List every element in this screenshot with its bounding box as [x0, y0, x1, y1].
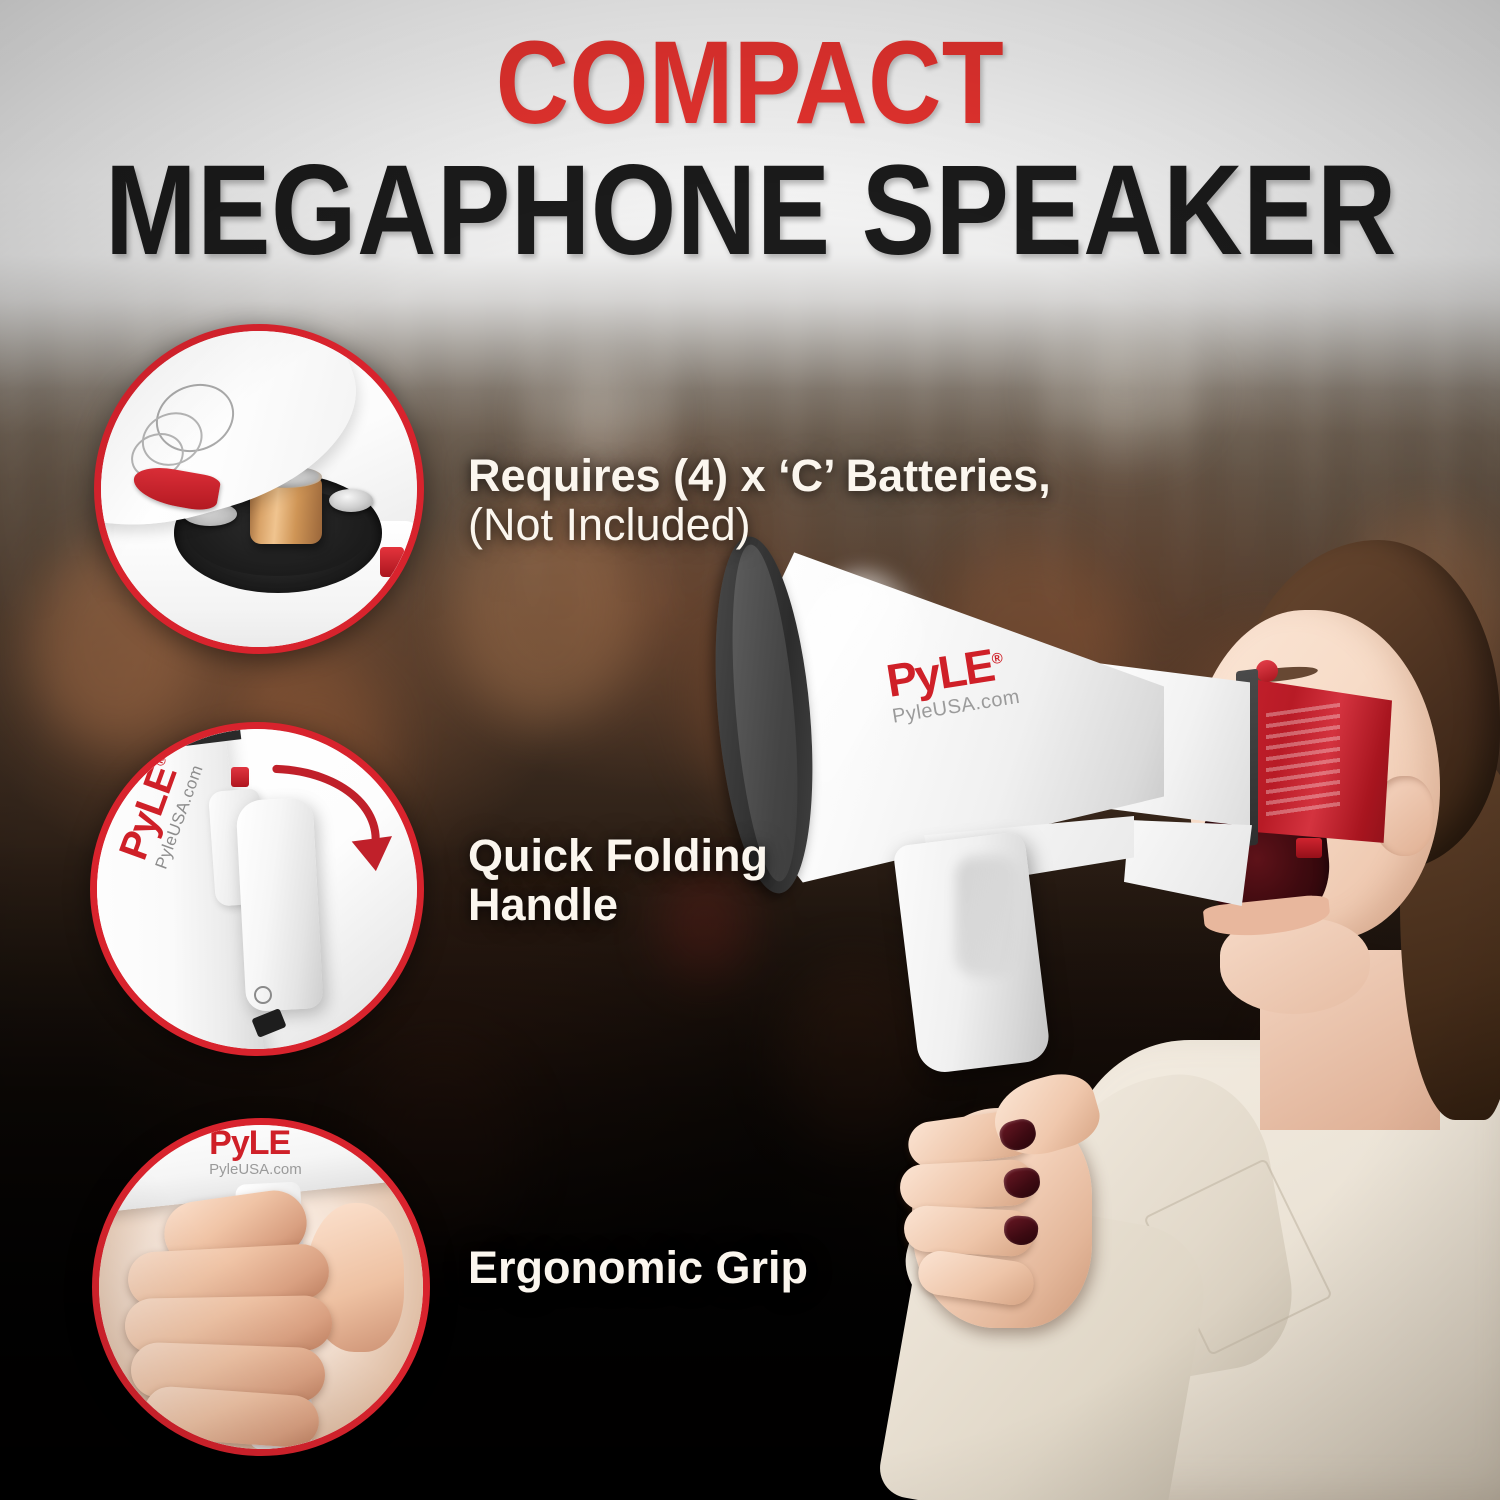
feature-handle-line-2: Handle — [468, 881, 768, 930]
feature-label-battery: Requires (4) x ‘C’ Batteries, (Not Inclu… — [468, 452, 1051, 549]
feature-handle-line-1: Quick Folding — [468, 832, 768, 881]
callout-ergonomic-grip: PyLE PyleUSA.com — [92, 1118, 430, 1456]
pyle-logo: PyLE PyleUSA.com — [209, 1128, 302, 1178]
headline-block: COMPACT MEGAPHONE SPEAKER — [0, 26, 1500, 273]
handle-shadow — [956, 856, 1016, 976]
fold-direction-arrow-icon — [263, 755, 397, 896]
callout-folding-handle: PyLE® PyleUSA.com — [90, 722, 424, 1056]
lid-latch — [380, 547, 404, 577]
megaphone-neck — [1124, 820, 1252, 906]
red-knob — [1256, 660, 1278, 682]
product-marketing-image: COMPACT MEGAPHONE SPEAKER — [0, 0, 1500, 1500]
wrist-strap-ring — [254, 986, 272, 1004]
hand-holding-megaphone — [882, 1058, 1122, 1358]
speaker-vents — [1266, 703, 1340, 817]
red-button — [231, 767, 249, 787]
callout-battery-compartment — [94, 324, 424, 654]
pyle-logo-url: PyleUSA.com — [209, 1161, 302, 1178]
registered-mark-icon: ® — [990, 650, 1002, 668]
feature-battery-line-2: (Not Included) — [468, 501, 1051, 550]
pyle-logo-text: PyLE — [209, 1125, 290, 1162]
red-tab — [1296, 838, 1322, 858]
feature-grip-line-1: Ergonomic Grip — [468, 1244, 808, 1293]
product-hero: PyLE® PyleUSA.com — [700, 520, 1500, 1500]
feature-label-grip: Ergonomic Grip — [468, 1244, 808, 1293]
battery-contact-right — [329, 489, 373, 512]
headline-line-2: MEGAPHONE SPEAKER — [105, 148, 1395, 273]
feature-battery-line-1: Requires (4) x ‘C’ Batteries, — [468, 452, 1051, 501]
headline-line-1: COMPACT — [105, 26, 1395, 142]
feature-label-handle: Quick Folding Handle — [468, 832, 768, 929]
